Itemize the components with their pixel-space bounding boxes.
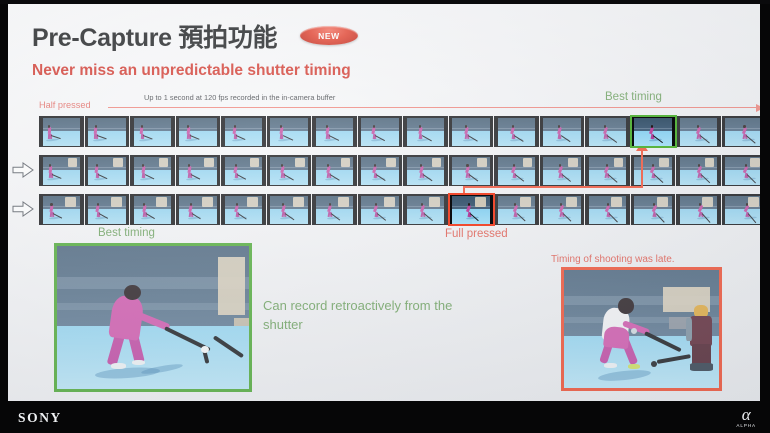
filmstrip-frame-thumbnail xyxy=(498,157,536,185)
filmstrip-frame-thumbnail xyxy=(589,118,627,146)
filmstrip-frame-thumbnail xyxy=(407,157,445,185)
filmstrip-frame-thumbnail xyxy=(543,157,581,185)
photo-best-timing xyxy=(54,243,252,392)
filmstrip-frame-best-timing[interactable] xyxy=(631,116,677,147)
timeline-label-half-pressed: Half pressed xyxy=(39,100,91,110)
filmstrip-frame-thumbnail xyxy=(43,196,81,224)
filmstrip-frame-thumbnail xyxy=(498,118,536,146)
filmstrip-frame-thumbnail xyxy=(225,118,263,146)
filmstrip-frame[interactable] xyxy=(312,194,358,225)
filmstrip-frame[interactable] xyxy=(585,116,631,147)
filmstrip-frame-thumbnail xyxy=(634,196,672,224)
filmstrip-frame-thumbnail xyxy=(43,118,81,146)
timeline-buffer-note: Up to 1 second at 120 fps recorded in th… xyxy=(144,93,335,102)
filmstrip-frame[interactable] xyxy=(676,194,722,225)
filmstrip-frame[interactable] xyxy=(176,155,222,186)
photo-late-timing xyxy=(561,267,722,391)
filmstrip-frame-thumbnail xyxy=(589,157,627,185)
filmstrip-frame[interactable] xyxy=(358,116,404,147)
filmstrip-frame-thumbnail xyxy=(270,196,308,224)
pointer-arrow-icon-row3 xyxy=(12,201,34,217)
connector-vertical xyxy=(641,150,643,188)
filmstrip-frame-thumbnail xyxy=(680,118,718,146)
filmstrip-frame[interactable] xyxy=(176,194,222,225)
filmstrip-frame-full-pressed[interactable] xyxy=(449,194,495,225)
filmstrip-frame-thumbnail xyxy=(316,196,354,224)
filmstrip-row-2 xyxy=(39,155,760,186)
body-text-retroactive: Can record retroactively from the shutte… xyxy=(263,297,478,335)
filmstrip-frame-thumbnail xyxy=(452,157,490,185)
timeline-axis-line xyxy=(108,107,760,108)
filmstrip-frame-thumbnail xyxy=(634,157,672,185)
filmstrip-frame[interactable] xyxy=(449,155,495,186)
filmstrip-frame-thumbnail xyxy=(270,118,308,146)
connector-horizontal xyxy=(463,186,643,188)
filmstrip-frame[interactable] xyxy=(540,116,586,147)
filmstrip-frame-thumbnail xyxy=(88,157,126,185)
filmstrip-frame-thumbnail xyxy=(270,157,308,185)
filmstrip-frame[interactable] xyxy=(312,155,358,186)
alpha-glyph-icon: α xyxy=(736,407,756,422)
filmstrip-frame-thumbnail xyxy=(361,196,399,224)
filmstrip-frame-thumbnail xyxy=(498,196,536,224)
filmstrip-frame-thumbnail xyxy=(543,196,581,224)
filmstrip-frame[interactable] xyxy=(403,155,449,186)
filmstrip-frame[interactable] xyxy=(221,116,267,147)
filmstrip-frame[interactable] xyxy=(585,194,631,225)
filmstrip-frame-thumbnail xyxy=(452,118,490,146)
alpha-wordmark: ALPHA xyxy=(736,423,756,428)
filmstrip-frame-thumbnail xyxy=(225,196,263,224)
alpha-logo: α ALPHA xyxy=(736,407,756,428)
filmstrip-row-3 xyxy=(39,194,760,225)
filmstrip-frame[interactable] xyxy=(358,155,404,186)
filmstrip-frame[interactable] xyxy=(585,155,631,186)
new-badge: NEW xyxy=(300,26,358,45)
filmstrip-frame[interactable] xyxy=(312,116,358,147)
projected-slide-screenshot: Pre-Capture 預拍功能 NEW Never miss an unpre… xyxy=(0,0,770,433)
filmstrip-frame-thumbnail xyxy=(407,196,445,224)
filmstrip-frame[interactable] xyxy=(494,116,540,147)
filmstrip-frame[interactable] xyxy=(130,155,176,186)
filmstrip-frame[interactable] xyxy=(676,116,722,147)
filmstrip-frame[interactable] xyxy=(267,116,313,147)
filmstrip-frame[interactable] xyxy=(39,155,85,186)
filmstrip-frame[interactable] xyxy=(403,194,449,225)
filmstrip-frame-thumbnail xyxy=(43,157,81,185)
filmstrip-frame-thumbnail xyxy=(589,196,627,224)
filmstrip-frame[interactable] xyxy=(267,194,313,225)
filmstrip-frame-thumbnail xyxy=(361,118,399,146)
filmstrip-frame-thumbnail xyxy=(134,196,172,224)
timeline-arrowhead-icon xyxy=(756,104,760,112)
pointer-arrow-icon-row2 xyxy=(12,162,34,178)
filmstrip-frame-thumbnail xyxy=(680,157,718,185)
filmstrip-frame[interactable] xyxy=(403,116,449,147)
timeline-label-best-timing: Best timing xyxy=(605,91,662,103)
filmstrip-frame-thumbnail xyxy=(179,157,217,185)
filmstrip-frame-thumbnail xyxy=(634,118,672,146)
filmstrip-frame-thumbnail xyxy=(725,118,760,146)
filmstrip-frame[interactable] xyxy=(722,116,761,147)
filmstrip-frame-thumbnail xyxy=(316,157,354,185)
page-subtitle: Never miss an unpredictable shutter timi… xyxy=(32,62,351,80)
filmstrip-frame[interactable] xyxy=(676,155,722,186)
filmstrip-frame-thumbnail xyxy=(316,118,354,146)
filmstrip-frame-thumbnail xyxy=(725,157,760,185)
filmstrip-frame[interactable] xyxy=(540,155,586,186)
filmstrip-frame[interactable] xyxy=(39,116,85,147)
filmstrip-frame[interactable] xyxy=(449,116,495,147)
caption-late-timing: Timing of shooting was late. xyxy=(551,254,675,265)
filmstrip-frame-thumbnail xyxy=(361,157,399,185)
filmstrip-frame-thumbnail xyxy=(88,196,126,224)
slide-canvas: Pre-Capture 預拍功能 NEW Never miss an unpre… xyxy=(8,4,760,401)
filmstrip-frame[interactable] xyxy=(130,116,176,147)
filmstrip-frame[interactable] xyxy=(494,155,540,186)
filmstrip-frame[interactable] xyxy=(221,155,267,186)
filmstrip-frame[interactable] xyxy=(722,194,761,225)
filmstrip-frame-thumbnail xyxy=(88,118,126,146)
filmstrip-frame-thumbnail xyxy=(407,118,445,146)
filmstrip-frame-thumbnail xyxy=(179,118,217,146)
filmstrip-frame[interactable] xyxy=(267,155,313,186)
filmstrip-frame[interactable] xyxy=(540,194,586,225)
filmstrip-frame[interactable] xyxy=(631,194,677,225)
filmstrip-frame[interactable] xyxy=(494,194,540,225)
filmstrip-frame[interactable] xyxy=(631,155,677,186)
filmstrip-frame[interactable] xyxy=(85,155,131,186)
filmstrip-frame-thumbnail xyxy=(725,196,760,224)
sony-logo: SONY xyxy=(18,410,62,426)
filmstrip-frame-thumbnail xyxy=(680,196,718,224)
page-title: Pre-Capture 預拍功能 xyxy=(32,18,277,54)
filmstrip-frame[interactable] xyxy=(85,116,131,147)
filmstrip-frame[interactable] xyxy=(176,116,222,147)
filmstrip-frame-thumbnail xyxy=(134,118,172,146)
caption-best-timing: Best timing xyxy=(98,227,155,239)
filmstrip-frame[interactable] xyxy=(130,194,176,225)
filmstrip-frame-thumbnail xyxy=(452,196,490,224)
caption-full-pressed: Full pressed xyxy=(445,228,508,240)
filmstrip-frame[interactable] xyxy=(358,194,404,225)
sony-footer-bar: SONY α ALPHA xyxy=(0,401,770,433)
filmstrip-frame-thumbnail xyxy=(543,118,581,146)
filmstrip-frame[interactable] xyxy=(221,194,267,225)
filmstrip-frame-thumbnail xyxy=(179,196,217,224)
filmstrip-frame-thumbnail xyxy=(134,157,172,185)
filmstrip-frame[interactable] xyxy=(39,194,85,225)
filmstrip-frame[interactable] xyxy=(722,155,761,186)
filmstrip-frame[interactable] xyxy=(85,194,131,225)
filmstrip-row-1 xyxy=(39,116,760,147)
filmstrip-frame-thumbnail xyxy=(225,157,263,185)
